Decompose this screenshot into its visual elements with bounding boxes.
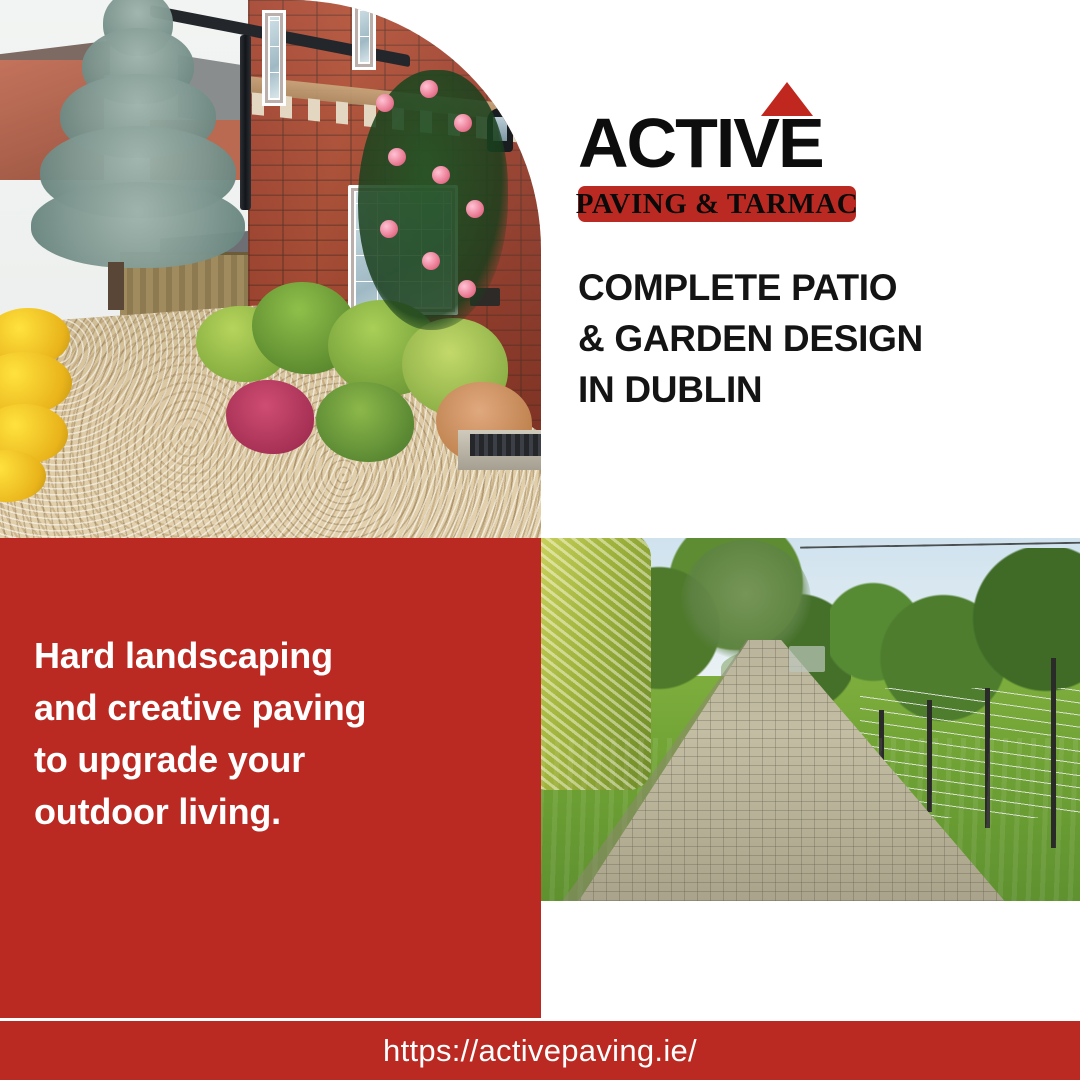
brand-logo: ACTIVE PAVING & TARMAC	[578, 108, 878, 222]
tagline: Hard landscaping and creative paving to …	[34, 630, 504, 838]
footer-bar: https://activepaving.ie/	[0, 1021, 1080, 1080]
tree-trunk	[108, 262, 124, 310]
headline-line-1: COMPLETE PATIO	[578, 262, 998, 313]
red-triangle-icon	[761, 82, 813, 116]
headline-line-3: IN DUBLIN	[578, 364, 998, 415]
tagline-line-1: Hard landscaping	[34, 630, 504, 682]
blue-spruce-tree	[30, 0, 245, 290]
logo-tagline-text: PAVING & TARMAC	[576, 188, 858, 221]
tagline-line-3: to upgrade your	[34, 734, 504, 786]
logo-word-text: ACTIVE	[578, 108, 823, 178]
headline-line-2: & GARDEN DESIGN	[578, 313, 998, 364]
headline: COMPLETE PATIO & GARDEN DESIGN IN DUBLIN	[578, 262, 998, 415]
distant-gate	[789, 646, 825, 672]
yellow-flower-bed	[0, 300, 106, 500]
window-upper-left	[262, 10, 286, 106]
tagline-line-4: outdoor living.	[34, 786, 504, 838]
house-driveway-photo	[0, 0, 541, 538]
logo-tagline-banner: PAVING & TARMAC	[578, 186, 856, 222]
tagline-line-2: and creative paving	[34, 682, 504, 734]
poster-canvas: ACTIVE PAVING & TARMAC COMPLETE PATIO & …	[0, 0, 1080, 1080]
red-tagline-panel: Hard landscaping and creative paving to …	[0, 538, 541, 1018]
climbing-rose-bush	[358, 70, 508, 330]
website-url-link[interactable]: https://activepaving.ie/	[383, 1033, 697, 1069]
paved-driveway-photo	[541, 538, 1080, 901]
window-upper-right	[352, 0, 376, 70]
logo-wordmark: ACTIVE	[578, 108, 878, 180]
door-mat	[470, 434, 541, 456]
